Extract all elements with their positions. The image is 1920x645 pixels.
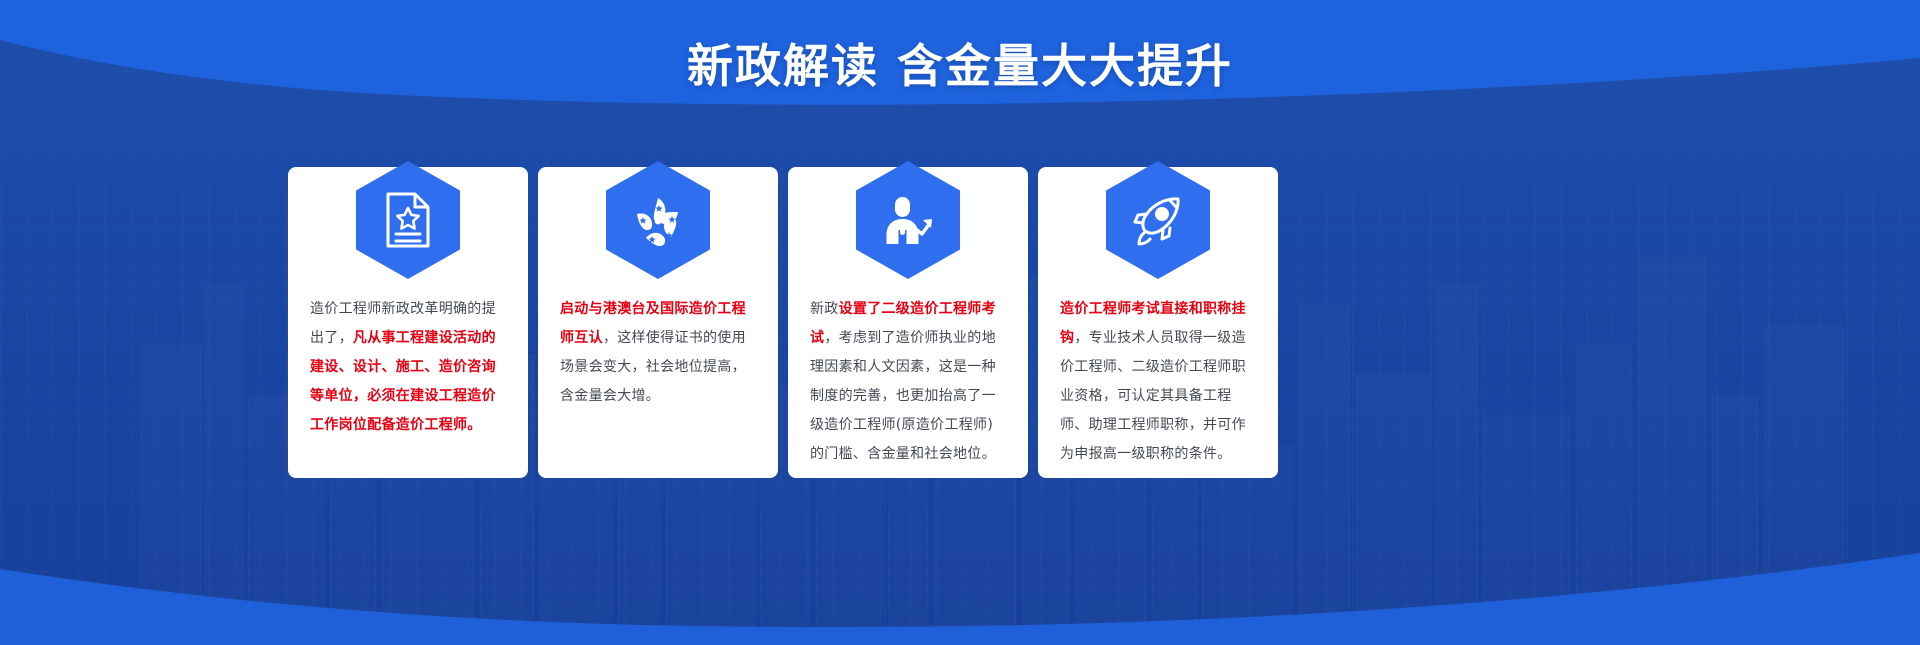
feature-card[interactable]: 造价工程师新政改革明确的提出了，凡从事工程建设活动的建设、设计、施工、造价咨询等… [288,167,528,478]
card-text-plain: ，专业技术人员取得一级造价工程师、二级造价工程师职业资格，可认定其具备工程师、助… [1060,330,1246,462]
businessman-growth-icon [879,192,937,248]
feature-card-list: 造价工程师新政改革明确的提出了，凡从事工程建设活动的建设、设计、施工、造价咨询等… [288,167,1278,478]
card-paragraph: 造价工程师新政改革明确的提出了，凡从事工程建设活动的建设、设计、施工、造价咨询等… [310,295,506,440]
card-icon-badge [606,161,710,279]
bottom-wave-decoration [0,525,1920,645]
document-star-icon [382,191,434,249]
card-icon-badge [356,161,460,279]
feature-card[interactable]: 造价工程师考试直接和职称挂钩，专业技术人员取得一级造价工程师、二级造价工程师职业… [1038,167,1278,478]
card-paragraph: 造价工程师考试直接和职称挂钩，专业技术人员取得一级造价工程师、二级造价工程师职业… [1060,295,1256,469]
bauhinia-flower-icon [628,190,688,250]
card-paragraph: 新政设置了二级造价工程师考试，考虑到了造价师执业的地理因素和人文因素，这是一种制… [810,295,1006,469]
promo-banner: 新政解读 含金量大大提升 造价工程师新政改革明确的提出了，凡从事工程建设活动的建… [0,0,1920,645]
card-paragraph: 启动与港澳台及国际造价工程师互认，这样使得证书的使用场景会变大，社会地位提高，含… [560,295,756,411]
page-title: 新政解读 含金量大大提升 [0,30,1920,96]
rocket-icon [1129,191,1187,249]
feature-card[interactable]: 启动与港澳台及国际造价工程师互认，这样使得证书的使用场景会变大，社会地位提高，含… [538,167,778,478]
card-icon-badge [1106,161,1210,279]
card-text-plain-tail: ，考虑到了造价师执业的地理因素和人文因素，这是一种制度的完善，也更加抬高了一级造… [810,330,996,462]
card-icon-badge [856,161,960,279]
feature-card[interactable]: 新政设置了二级造价工程师考试，考虑到了造价师执业的地理因素和人文因素，这是一种制… [788,167,1028,478]
card-text-plain: 新政 [810,301,839,317]
